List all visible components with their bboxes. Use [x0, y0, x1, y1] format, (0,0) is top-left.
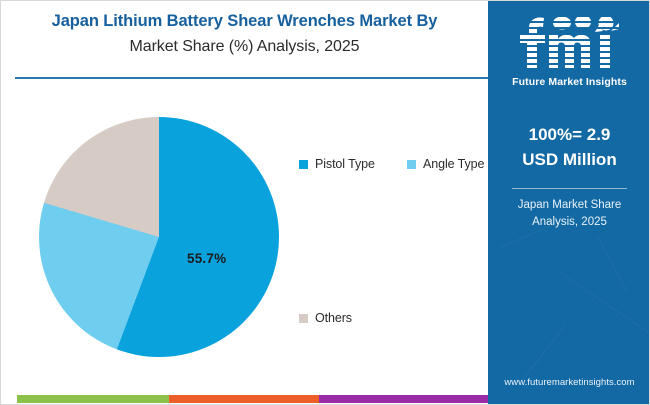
- legend-label-angle-type: Angle Type: [423, 157, 484, 171]
- legend-swatch-others: [299, 314, 308, 323]
- pie-chart-area: 55.7% Pistol Type Angle Type Others: [1, 79, 488, 391]
- legend-swatch-angle-type: [407, 160, 416, 169]
- fmi-logo-icon: [507, 11, 633, 73]
- footer-color-strip: [1, 395, 488, 403]
- panel-stat: 100%= 2.9 USD Million: [488, 123, 650, 172]
- footer-strip-segment-green: [17, 395, 169, 403]
- panel-decoration-line: [521, 326, 565, 382]
- pie-chart: [39, 117, 279, 357]
- panel-divider: [512, 188, 627, 189]
- legend-item-angle-type[interactable]: Angle Type: [407, 157, 484, 171]
- chart-title-line1: Japan Lithium Battery Shear Wrenches Mar…: [19, 9, 470, 35]
- panel-caption-line2: Analysis, 2025: [488, 214, 650, 231]
- panel-decoration-line: [557, 270, 649, 332]
- legend-item-others[interactable]: Others: [299, 311, 352, 325]
- legend-swatch-pistol-type: [299, 160, 308, 169]
- panel-caption-line1: Japan Market Share: [488, 197, 650, 214]
- footer-strip-segment-purple: [319, 395, 488, 403]
- legend-label-others: Others: [315, 311, 352, 325]
- pie-slice-label-pistol-type: 55.7%: [187, 251, 226, 266]
- footer-strip-segment-orange: [169, 395, 319, 403]
- panel-stat-line2: USD Million: [488, 148, 650, 173]
- chart-title-line2: Market Share (%) Analysis, 2025: [19, 35, 470, 59]
- panel-website-url[interactable]: www.futuremarketinsights.com: [488, 377, 650, 388]
- fmi-logo-tagline: Future Market Insights: [488, 76, 650, 88]
- legend-label-pistol-type: Pistol Type: [315, 157, 375, 171]
- legend-item-pistol-type[interactable]: Pistol Type: [299, 157, 375, 171]
- panel-caption: Japan Market Share Analysis, 2025: [488, 197, 650, 230]
- chart-screenshot: Japan Lithium Battery Shear Wrenches Mar…: [0, 0, 650, 405]
- chart-title: Japan Lithium Battery Shear Wrenches Mar…: [1, 1, 488, 78]
- brand-panel: Future Market Insights 100%= 2.9 USD Mil…: [488, 1, 650, 405]
- fmi-logo: Future Market Insights: [488, 11, 650, 88]
- panel-stat-line1: 100%= 2.9: [488, 123, 650, 148]
- panel-decoration-line: [597, 235, 628, 292]
